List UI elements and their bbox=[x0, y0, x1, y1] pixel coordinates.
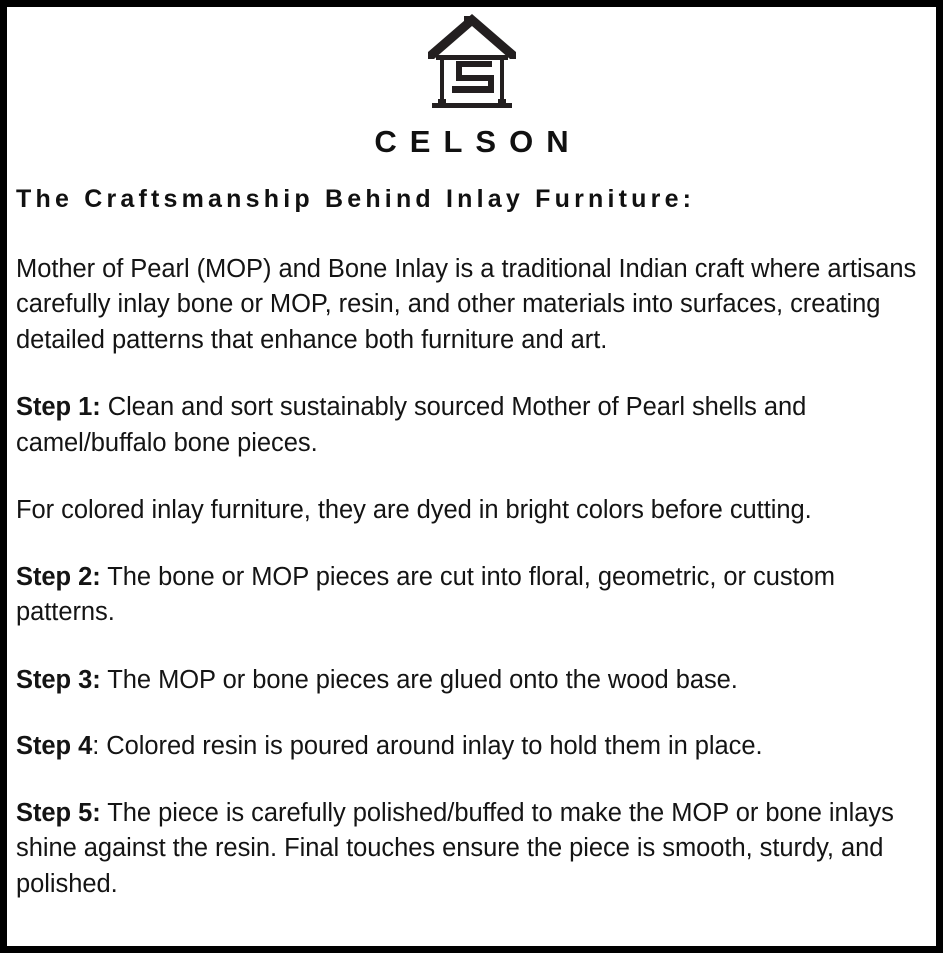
step-3-text: The MOP or bone pieces are glued onto th… bbox=[101, 666, 738, 694]
spacer bbox=[16, 631, 920, 663]
step-5-paragraph: Step 5: The piece is carefully polished/… bbox=[16, 796, 920, 903]
spacer bbox=[16, 358, 920, 390]
step-4-paragraph: Step 4: Colored resin is poured around i… bbox=[16, 729, 920, 765]
step-4-label: Step 4 bbox=[16, 732, 92, 760]
spacer bbox=[16, 529, 920, 560]
spacer bbox=[16, 461, 920, 493]
step-3-paragraph: Step 3: The MOP or bone pieces are glued… bbox=[16, 663, 920, 699]
step-1-text: Clean and sort sustainably sourced Mothe… bbox=[16, 393, 806, 457]
page-inner-surface: CELSON The Craftsmanship Behind Inlay Fu… bbox=[7, 7, 936, 946]
spacer bbox=[16, 698, 920, 729]
house-pillars-logo-icon bbox=[426, 12, 518, 112]
brand-block: CELSON bbox=[7, 7, 936, 157]
intro-paragraph: Mother of Pearl (MOP) and Bone Inlay is … bbox=[16, 252, 920, 359]
step-2-text: The bone or MOP pieces are cut into flor… bbox=[16, 563, 835, 627]
page-title: The Craftsmanship Behind Inlay Furniture… bbox=[16, 185, 920, 214]
spacer bbox=[16, 765, 920, 796]
step-2-paragraph: Step 2: The bone or MOP pieces are cut i… bbox=[16, 560, 920, 631]
step-5-label: Step 5: bbox=[16, 799, 101, 827]
brand-name: CELSON bbox=[7, 126, 936, 157]
step-1-paragraph: Step 1: Clean and sort sustainably sourc… bbox=[16, 390, 920, 461]
step-4-text: : Colored resin is poured around inlay t… bbox=[92, 732, 762, 760]
step-3-label: Step 3: bbox=[16, 666, 101, 694]
infographic-page: CELSON The Craftsmanship Behind Inlay Fu… bbox=[0, 0, 943, 953]
colored-inlay-note: For colored inlay furniture, they are dy… bbox=[16, 493, 920, 529]
step-5-text: The piece is carefully polished/buffed t… bbox=[16, 799, 894, 898]
article-content: The Craftsmanship Behind Inlay Furniture… bbox=[7, 185, 936, 902]
spacer bbox=[16, 214, 920, 252]
step-1-label: Step 1: bbox=[16, 393, 101, 421]
step-2-label: Step 2: bbox=[16, 563, 101, 591]
